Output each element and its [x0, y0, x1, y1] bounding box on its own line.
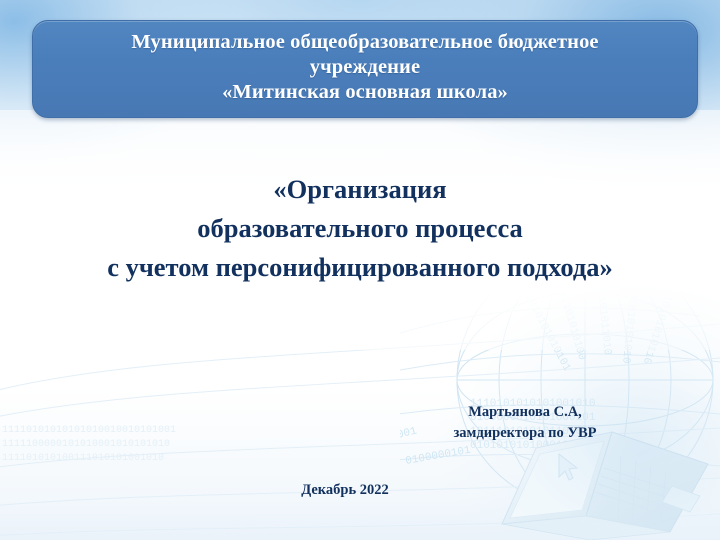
- school-name-text: Муниципальное общеобразовательное бюджет…: [131, 30, 598, 105]
- school-name-plaque: Муниципальное общеобразовательное бюджет…: [32, 20, 698, 118]
- title-line-1: «Организация: [0, 170, 720, 209]
- presentation-slide: 01010101010101 0101101010100 10101010110…: [0, 0, 720, 540]
- author-name: Мартьянова С.А,: [380, 402, 670, 423]
- school-name-line-1: Муниципальное общеобразовательное бюджет…: [131, 30, 598, 55]
- author-block: Мартьянова С.А, замдиректора по УВР: [380, 402, 670, 443]
- title-line-2: образовательного процесса: [0, 209, 720, 248]
- school-name-line-3: «Митинская основная школа»: [131, 80, 598, 105]
- author-position: замдиректора по УВР: [380, 423, 670, 444]
- presentation-title: «Организация образовательного процесса с…: [0, 170, 720, 288]
- presentation-date: Декабрь 2022: [215, 482, 475, 499]
- school-name-line-2: учреждение: [131, 55, 598, 80]
- title-line-3: с учетом персонифицированного подхода»: [0, 248, 720, 287]
